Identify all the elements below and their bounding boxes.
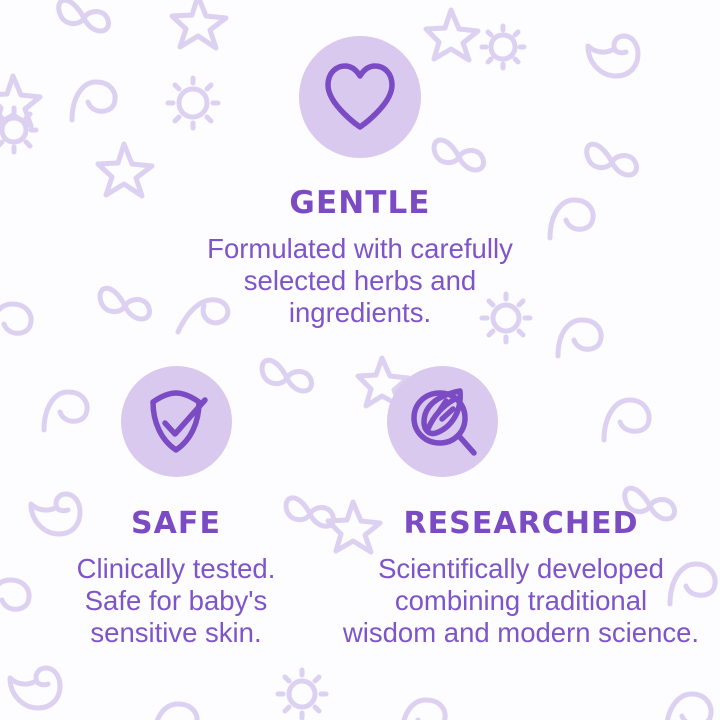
heart-doodle — [556, 316, 606, 358]
butterfly-doodle — [582, 132, 642, 190]
butterfly-doodle — [54, 0, 114, 44]
feature-body-safe: Clinically tested. Safe for baby's sensi… — [15, 553, 337, 650]
magnifier-leaf-icon — [408, 387, 478, 457]
heart-doodle — [68, 78, 120, 122]
duck-doodle — [582, 30, 644, 80]
feature-title-researched: RESEARCHED — [335, 509, 707, 539]
heart-doodle — [152, 700, 202, 720]
shield-check-icon — [141, 388, 211, 456]
feature-gentle: GENTLE Formulated with carefully selecte… — [160, 36, 560, 330]
heart-doodle — [400, 696, 450, 720]
gentle-icon-circle — [299, 36, 421, 158]
heart-doodle — [0, 300, 36, 344]
feature-body-researched: Scientifically developed combining tradi… — [335, 553, 707, 650]
heart-doodle — [662, 690, 716, 720]
safe-icon-circle — [121, 366, 232, 477]
sun-doodle — [276, 668, 328, 720]
researched-icon-circle — [387, 366, 498, 477]
sun-doodle — [0, 106, 38, 154]
feature-title-gentle: GENTLE — [160, 188, 560, 219]
star-doodle — [0, 74, 42, 128]
feature-poster: GENTLE Formulated with carefully selecte… — [0, 0, 720, 720]
duck-doodle — [4, 662, 66, 714]
feature-researched: RESEARCHED Scientifically developed comb… — [335, 366, 707, 650]
heart-icon — [323, 63, 397, 131]
feature-title-safe: SAFE — [15, 509, 337, 539]
feature-body-gentle: Formulated with carefully selected herbs… — [160, 233, 560, 330]
butterfly-doodle — [96, 276, 154, 332]
feature-safe: SAFE Clinically tested. Safe for baby's … — [15, 366, 337, 650]
star-doodle — [96, 142, 154, 198]
